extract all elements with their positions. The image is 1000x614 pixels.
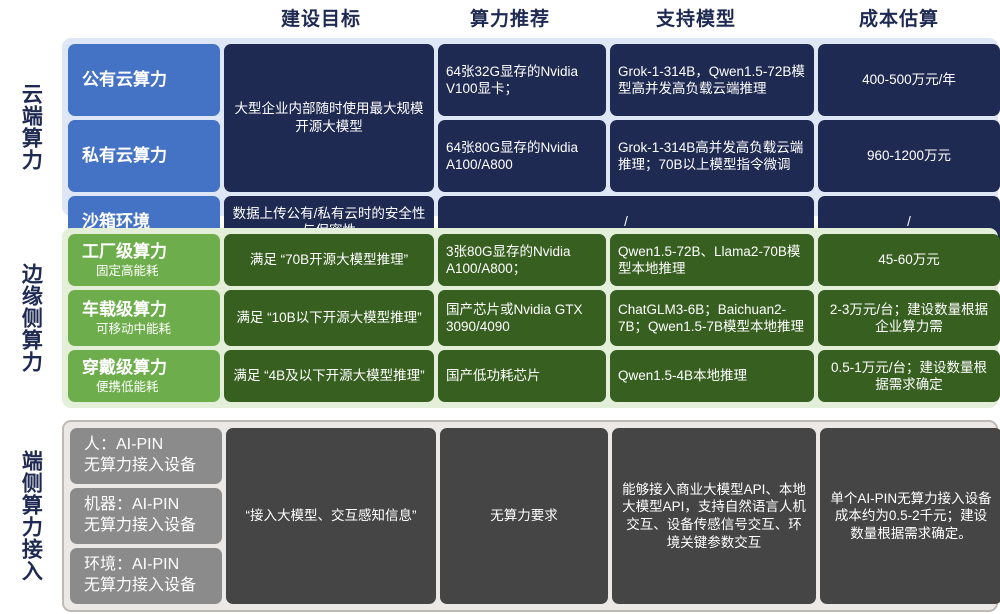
compute-cell-device-merged[interactable]: 无算力要求 — [440, 428, 608, 604]
band-device-rows: 人：AI-PIN 无算力接入设备 机器：AI-PIN 无算力接入设备 环境：AI… — [70, 428, 990, 604]
row-label-factory-grade[interactable]: 工厂级算力 固定高能耗 — [68, 234, 220, 286]
compute-cell-private-cloud[interactable]: 64张80G显存的Nvidia A100/A800 — [438, 120, 606, 192]
cost-cell-vehicle-grade[interactable]: 2-3万元/台；建设数量根据企业算力需 — [818, 290, 1000, 346]
model-cell-device-merged[interactable]: 能够接入商业大模型API、本地大模型API，支持自然语言人机交互、设备传感信号交… — [612, 428, 816, 604]
compute-cell-factory-grade[interactable]: 3张80G显存的Nvidia A100/A800； — [438, 234, 606, 286]
table-row[interactable]: 工厂级算力 固定高能耗 满足 “70B开源大模型推理” 3张80G显存的Nvid… — [68, 234, 992, 286]
table-row[interactable]: 车载级算力 可移动中能耗 满足 “10B以下开源大模型推理” 国产芯片或Nvid… — [68, 290, 992, 346]
compute-cell-public-cloud[interactable]: 64张32G显存的Nvidia V100显卡； — [438, 44, 606, 116]
cost-cell-public-cloud[interactable]: 400-500万元/年 — [818, 44, 1000, 116]
band-side-label-device-text: 端侧算力接入 — [19, 450, 42, 582]
cost-cell-device-merged[interactable]: 单个AI-PIN无算力接入设备成本约为0.5-2千元；建设数量根据需求确定。 — [820, 428, 1000, 604]
band-side-label-edge: 边缘侧算力 — [0, 228, 60, 408]
row-label-wearable-grade[interactable]: 穿戴级算力 便携低能耗 — [68, 350, 220, 402]
band-side-label-edge-text: 边缘侧算力 — [19, 263, 42, 373]
table-row[interactable]: 私有云算力 64张80G显存的Nvidia A100/A800 Grok-1-3… — [68, 120, 992, 192]
model-cell-vehicle-grade[interactable]: ChatGLM3-6B；Baichuan2-7B；Qwen1.5-7B模型本地推… — [610, 290, 814, 346]
cost-cell-wearable-grade[interactable]: 0.5-1万元/台；建设数量根据需求确定 — [818, 350, 1000, 402]
compute-cell-vehicle-grade[interactable]: 国产芯片或Nvidia GTX 3090/4090 — [438, 290, 606, 346]
row-label-machine-aipin[interactable]: 机器：AI-PIN 无算力接入设备 — [70, 488, 222, 544]
band-device: 人：AI-PIN 无算力接入设备 机器：AI-PIN 无算力接入设备 环境：AI… — [62, 420, 998, 612]
goal-cell-device-merged[interactable]: “接入大模型、交互感知信息” — [226, 428, 436, 604]
row-label-human-aipin[interactable]: 人：AI-PIN 无算力接入设备 — [70, 428, 222, 484]
band-edge-rows: 工厂级算力 固定高能耗 满足 “70B开源大模型推理” 3张80G显存的Nvid… — [68, 234, 992, 402]
row-label-public-cloud[interactable]: 公有云算力 — [68, 44, 220, 116]
band-side-label-cloud: 云端算力 — [0, 38, 60, 216]
row-label-vehicle-grade[interactable]: 车载级算力 可移动中能耗 — [68, 290, 220, 346]
band-side-label-device: 端侧算力接入 — [0, 420, 60, 612]
model-cell-public-cloud[interactable]: Grok-1-314B，Qwen1.5-72B模型高并发高负载云端推理 — [610, 44, 814, 116]
table-row[interactable]: 公有云算力 64张32G显存的Nvidia V100显卡； Grok-1-314… — [68, 44, 992, 116]
model-cell-private-cloud[interactable]: Grok-1-314B高并发高负载云端推理；70B以上模型指令微调 — [610, 120, 814, 192]
cost-cell-private-cloud[interactable]: 960-1200万元 — [818, 120, 1000, 192]
column-header-compute: 算力推荐 — [426, 0, 594, 34]
cost-cell-factory-grade[interactable]: 45-60万元 — [818, 234, 1000, 286]
column-headers: 建设目标 算力推荐 支持模型 成本估算 — [216, 0, 1000, 34]
row-label-environment-aipin[interactable]: 环境：AI-PIN 无算力接入设备 — [70, 548, 222, 604]
goal-cell-cloud-merged[interactable]: 大型企业内部随时使用最大规模开源大模型 — [224, 44, 434, 192]
model-cell-factory-grade[interactable]: Qwen1.5-72B、Llama2-70B模型本地推理 — [610, 234, 814, 286]
table-row[interactable]: 穿戴级算力 便携低能耗 满足 “4B及以下开源大模型推理” 国产低功耗芯片 Qw… — [68, 350, 992, 402]
goal-cell-vehicle-grade[interactable]: 满足 “10B以下开源大模型推理” — [224, 290, 434, 346]
band-side-label-cloud-text: 云端算力 — [19, 83, 42, 171]
goal-cell-factory-grade[interactable]: 满足 “70B开源大模型推理” — [224, 234, 434, 286]
model-cell-wearable-grade[interactable]: Qwen1.5-4B本地推理 — [610, 350, 814, 402]
goal-cell-wearable-grade[interactable]: 满足 “4B及以下开源大模型推理” — [224, 350, 434, 402]
band-cloud-rows: 公有云算力 64张32G显存的Nvidia V100显卡； Grok-1-314… — [68, 44, 992, 210]
column-header-goal: 建设目标 — [216, 0, 426, 34]
compute-cell-wearable-grade[interactable]: 国产低功耗芯片 — [438, 350, 606, 402]
row-label-private-cloud[interactable]: 私有云算力 — [68, 120, 220, 192]
column-header-model: 支持模型 — [594, 0, 798, 34]
column-header-cost: 成本估算 — [798, 0, 1000, 34]
computing-power-matrix: 建设目标 算力推荐 支持模型 成本估算 云端算力 公有云算力 64张32G显存的… — [0, 0, 1000, 614]
band-cloud: 公有云算力 64张32G显存的Nvidia V100显卡； Grok-1-314… — [62, 38, 998, 216]
band-edge: 工厂级算力 固定高能耗 满足 “70B开源大模型推理” 3张80G显存的Nvid… — [62, 228, 998, 408]
